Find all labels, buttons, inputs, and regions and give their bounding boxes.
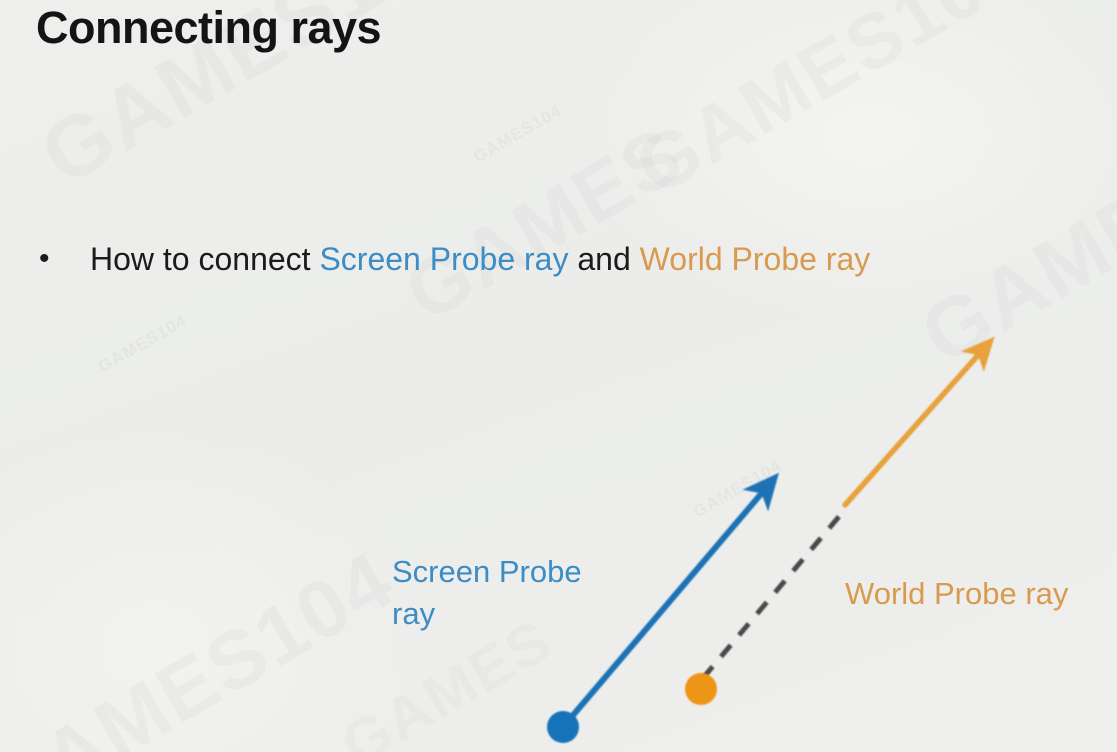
world-probe-ray-label: World Probe ray	[845, 573, 1068, 615]
world-probe-ray-arrow	[845, 344, 988, 505]
ray-diagram	[0, 0, 1117, 752]
screen-probe-origin-dot	[547, 711, 579, 743]
bullet-term-world-probe: World Probe ray	[640, 241, 871, 277]
connector-dashed-line	[703, 507, 847, 678]
watermark-small-text: GAMES104	[95, 311, 190, 378]
watermark-text: GAMES	[905, 141, 1117, 384]
bullet-marker-icon: •	[36, 236, 90, 282]
watermark-text: GAMES104	[620, 0, 1040, 214]
screen-probe-ray-label: Screen Probe ray	[392, 551, 624, 635]
slide-title: Connecting rays	[36, 2, 381, 54]
watermark-small-text: GAMES104	[690, 456, 785, 523]
bullet-text: How to connect Screen Probe ray and Worl…	[90, 236, 870, 282]
bullet-term-screen-probe: Screen Probe ray	[319, 241, 568, 277]
bullet-text-conjunction: and	[568, 241, 639, 277]
watermark-text: GAMES	[390, 108, 699, 339]
world-probe-origin-dot	[685, 673, 717, 705]
bullet-list-item: • How to connect Screen Probe ray and Wo…	[36, 236, 870, 282]
watermark-small-text: GAMES104	[470, 101, 565, 168]
bullet-text-prefix: How to connect	[90, 241, 319, 277]
watermark-text: GAMES104	[0, 533, 410, 752]
slide-canvas: GAMES104 GAMES GAMES104 GAMES GAMES104 G…	[0, 0, 1117, 752]
